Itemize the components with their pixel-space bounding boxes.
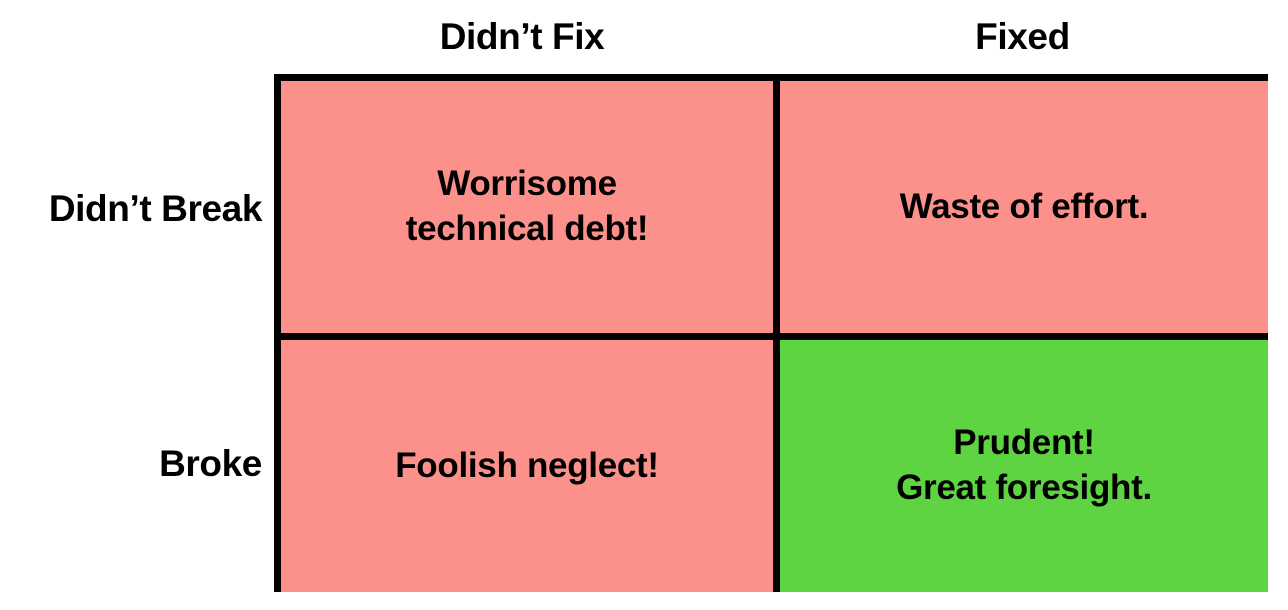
matrix-cell-text: Waste of effort. <box>900 185 1149 230</box>
decision-matrix: Didn’t Fix Fixed Didn’t Break Broke Worr… <box>0 0 1288 610</box>
matrix-cell-text: Prudent!Great foresight. <box>896 421 1152 511</box>
column-header-didnt-fix: Didn’t Fix <box>274 12 770 62</box>
matrix-cell-broke-didnt-fix: Foolish neglect! <box>281 340 773 592</box>
matrix-cell-text: Worrisometechnical debt! <box>406 162 648 252</box>
row-label-didnt-break: Didn’t Break <box>0 186 262 232</box>
matrix-cell-didnt-break-fixed: Waste of effort. <box>780 81 1268 333</box>
matrix-cell-broke-fixed: Prudent!Great foresight. <box>780 340 1268 592</box>
row-label-broke: Broke <box>0 441 262 487</box>
matrix-cell-text: Foolish neglect! <box>395 444 659 489</box>
column-header-fixed: Fixed <box>777 12 1268 62</box>
matrix-grid: Worrisometechnical debt! Waste of effort… <box>274 74 1268 592</box>
matrix-cell-didnt-break-didnt-fix: Worrisometechnical debt! <box>281 81 773 333</box>
